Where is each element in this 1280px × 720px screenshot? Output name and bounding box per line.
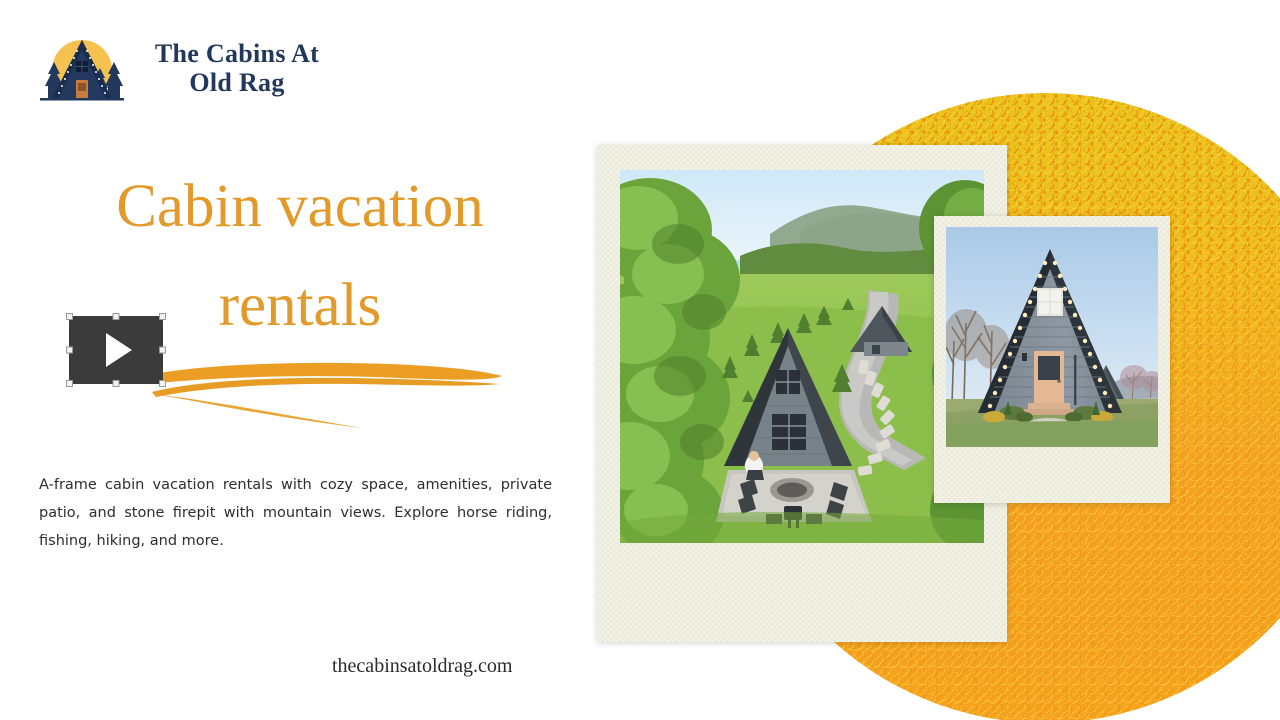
photo-frame-inset xyxy=(934,216,1170,503)
orange-brush-underline-icon xyxy=(150,350,510,430)
selection-handle-top-left[interactable] xyxy=(66,313,73,320)
selection-handle-middle-left[interactable] xyxy=(66,347,73,354)
play-icon[interactable] xyxy=(69,316,163,384)
front-a-frame-cabin-string-lights-photo xyxy=(946,227,1158,447)
selection-handle-middle-right[interactable] xyxy=(159,347,166,354)
description-paragraph: A-frame cabin vacation rentals with cozy… xyxy=(39,472,552,555)
selection-handle-bottom-right[interactable] xyxy=(159,380,166,387)
selection-handle-top-right[interactable] xyxy=(159,313,166,320)
logo-line-1: The Cabins At xyxy=(155,39,319,68)
video-placeholder[interactable] xyxy=(66,313,166,387)
slide-canvas: The Cabins At Old Rag Cabin vacation ren… xyxy=(0,0,1280,720)
brand-logo[interactable]: The Cabins At Old Rag xyxy=(32,28,297,108)
selection-handle-top-center[interactable] xyxy=(113,313,120,320)
aerial-a-frame-cabin-meadow-photo xyxy=(620,170,984,543)
selection-handle-bottom-center[interactable] xyxy=(113,380,120,387)
logo-line-2: Old Rag xyxy=(189,68,284,97)
cabin-logo-icon xyxy=(32,28,132,106)
selection-handle-bottom-left[interactable] xyxy=(66,380,73,387)
website-url[interactable]: thecabinsatoldrag.com xyxy=(332,655,513,678)
logo-wordmark: The Cabins At Old Rag xyxy=(142,39,332,98)
